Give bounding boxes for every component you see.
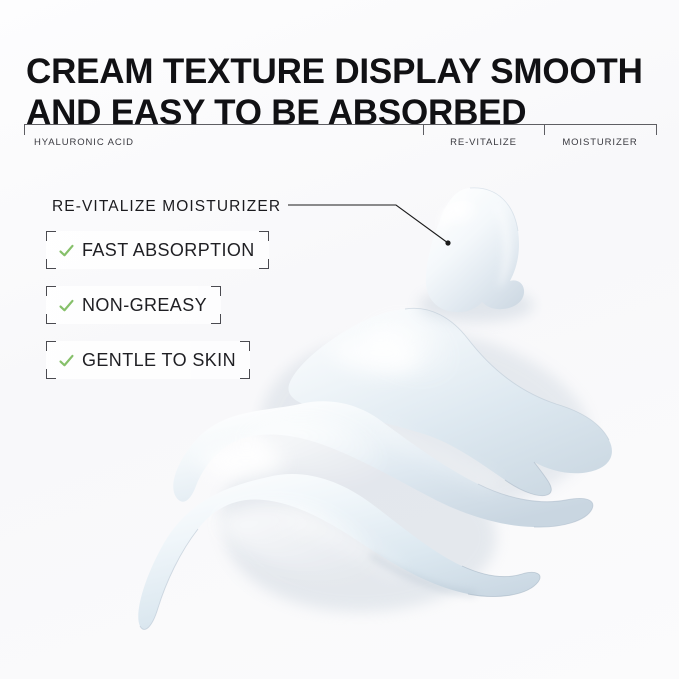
leader-endpoint-dot bbox=[445, 240, 450, 245]
scale-label-re-vitalize: RE-VITALIZE bbox=[423, 137, 544, 148]
bracket-bottom-right bbox=[240, 369, 250, 379]
bracket-bottom-right bbox=[211, 314, 221, 324]
bracket-bottom-left bbox=[46, 369, 56, 379]
page-title: CREAM TEXTURE DISPLAY SMOOTH AND EASY TO… bbox=[26, 51, 656, 133]
scale-tick-mid-1 bbox=[423, 124, 424, 135]
bracket-bottom-right bbox=[259, 259, 269, 269]
feature-item-non-greasy: NON-GREASY bbox=[46, 286, 221, 324]
bracket-bottom-left bbox=[46, 259, 56, 269]
scale-label-hyaluronic-acid: HYALURONIC ACID bbox=[34, 137, 134, 148]
scale-line bbox=[24, 124, 657, 125]
feature-label: FAST ABSORPTION bbox=[82, 241, 255, 259]
feature-label: GENTLE TO SKIN bbox=[82, 351, 236, 369]
check-icon bbox=[58, 242, 75, 259]
bracket-top-right bbox=[259, 231, 269, 241]
check-icon bbox=[58, 297, 75, 314]
bracket-top-right bbox=[211, 286, 221, 296]
bracket-top-left bbox=[46, 341, 56, 351]
feature-item-fast-absorption: FAST ABSORPTION bbox=[46, 231, 269, 269]
check-icon bbox=[58, 352, 75, 369]
feature-label: NON-GREASY bbox=[82, 296, 207, 314]
bracket-bottom-left bbox=[46, 314, 56, 324]
callout-title: RE-VITALIZE MOISTURIZER bbox=[52, 198, 281, 216]
feature-item-gentle-to-skin: GENTLE TO SKIN bbox=[46, 341, 250, 379]
bracket-top-left bbox=[46, 286, 56, 296]
scale-tick-end bbox=[656, 124, 657, 135]
ingredient-scale: HYALURONIC ACID RE-VITALIZE MOISTURIZER bbox=[24, 124, 657, 156]
bracket-top-left bbox=[46, 231, 56, 241]
scale-tick-start bbox=[24, 124, 25, 135]
scale-label-moisturizer: MOISTURIZER bbox=[544, 137, 656, 148]
scale-tick-mid-2 bbox=[544, 124, 545, 135]
bracket-top-right bbox=[240, 341, 250, 351]
product-graphic: CREAM TEXTURE DISPLAY SMOOTH AND EASY TO… bbox=[0, 0, 679, 679]
